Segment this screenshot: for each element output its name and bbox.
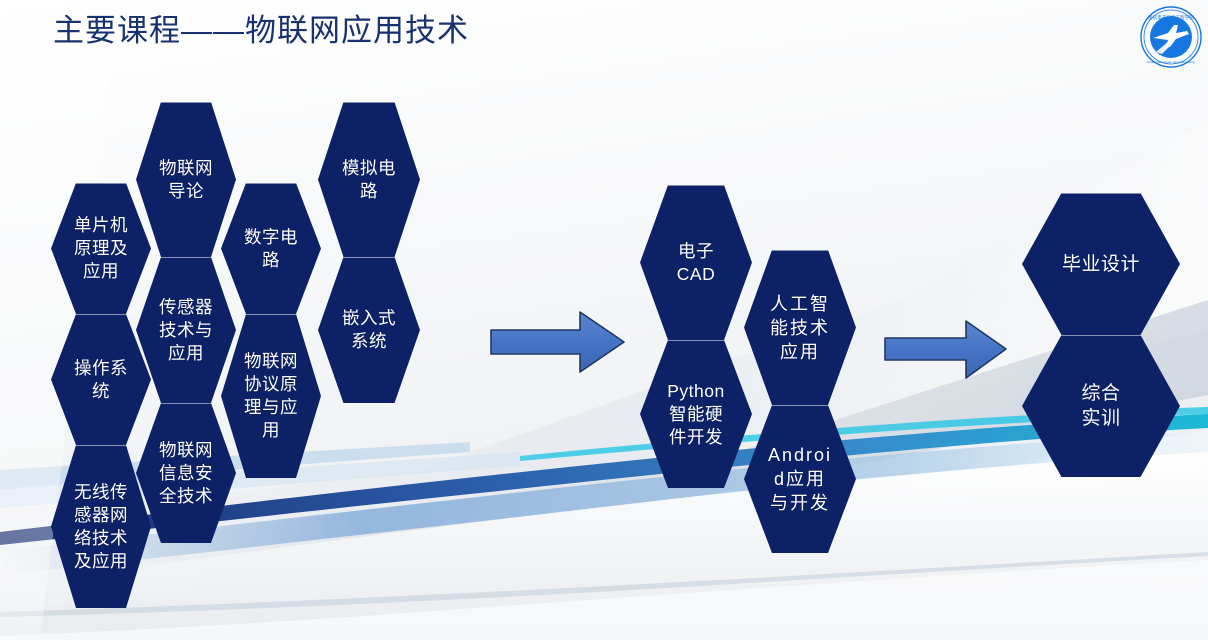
hex-ecad[interactable]: 电子 CAD: [640, 185, 752, 340]
hex-label: 无线传 感器网 络技术 及应用: [70, 481, 132, 573]
hex-iot-protocol[interactable]: 物联网 协议原 理与应 用: [221, 314, 321, 478]
hex-label: 物联网 信息安 全技术: [155, 439, 217, 508]
school-logo: 民航电子信息工程学院 Aviation Electronic Informati…: [1140, 6, 1202, 68]
hex-comprehensive[interactable]: 综合 实训: [1022, 335, 1180, 477]
hex-python[interactable]: Python 智能硬 件开发: [640, 340, 752, 488]
slide-canvas: 主要课程——物联网应用技术 民航电子信息工程学院 Aviation Electr…: [0, 0, 1208, 640]
hex-label: Androi d应用 与开发: [764, 443, 836, 515]
arrow-stage2-to-stage3: [882, 318, 1010, 387]
page-title: 主要课程——物联网应用技术: [53, 9, 469, 53]
hex-label: 电子 CAD: [673, 240, 719, 286]
hex-label: Python 智能硬 件开发: [663, 380, 728, 449]
hex-mcu[interactable]: 单片机 原理及 应用: [51, 183, 151, 314]
hex-sensor[interactable]: 传感器 技术与 应用: [136, 257, 236, 403]
hex-label: 操作系 统: [70, 357, 132, 403]
hex-label: 物联网 协议原 理与应 用: [240, 350, 302, 442]
hex-ai[interactable]: 人工智 能技术 应用: [744, 250, 856, 405]
hex-label: 单片机 原理及 应用: [70, 214, 132, 283]
hex-embedded[interactable]: 嵌入式 系统: [318, 257, 420, 403]
hex-iot-intro[interactable]: 物联网 导论: [136, 102, 236, 257]
hex-label: 传感器 技术与 应用: [155, 296, 217, 365]
hex-label: 人工智 能技术 应用: [766, 292, 834, 364]
hex-label: 嵌入式 系统: [338, 307, 400, 353]
hex-android[interactable]: Androi d应用 与开发: [744, 405, 856, 553]
hex-label: 数字电 路: [240, 226, 302, 272]
hex-label: 毕业设计: [1058, 252, 1144, 277]
hex-label: 模拟电 路: [338, 157, 400, 203]
arrow-stage1-to-stage2: [488, 308, 628, 383]
hex-analog[interactable]: 模拟电 路: [318, 102, 420, 257]
hex-iot-security[interactable]: 物联网 信息安 全技术: [136, 403, 236, 543]
hex-label: 物联网 导论: [155, 157, 217, 203]
hex-wsn[interactable]: 无线传 感器网 络技术 及应用: [51, 445, 151, 608]
hex-graduation-design[interactable]: 毕业设计: [1022, 193, 1180, 335]
svg-text:民航电子信息工程学院: 民航电子信息工程学院: [1148, 14, 1194, 21]
svg-text:Aviation Electronic Informatio: Aviation Electronic Information Eng.: [1147, 60, 1196, 64]
hex-digital[interactable]: 数字电 路: [221, 183, 321, 314]
hex-os[interactable]: 操作系 统: [51, 314, 151, 445]
hex-label: 综合 实训: [1077, 381, 1124, 431]
